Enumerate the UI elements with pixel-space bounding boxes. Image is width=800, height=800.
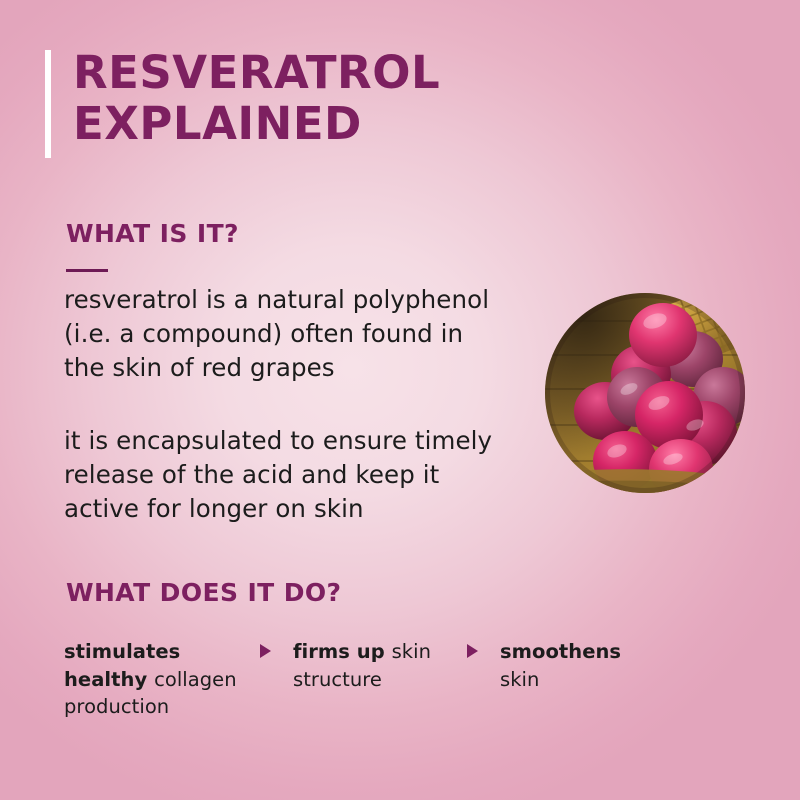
section-heading-what-does-it-do: WHAT DOES IT DO? — [66, 578, 341, 607]
triangle-right-icon — [260, 644, 271, 658]
benefit-strong-text: firms up — [293, 640, 392, 663]
triangle-right-icon — [467, 644, 478, 658]
poster-canvas: RESVERATROL EXPLAINED WHAT IS IT? resver… — [0, 0, 800, 800]
section-heading-what-is-it: WHAT IS IT? — [66, 219, 239, 248]
benefit-item-smoothness: smoothens skin — [500, 638, 650, 693]
benefits-list: stimulates healthy collagen production f… — [64, 638, 650, 721]
grapes-photo — [545, 293, 745, 493]
paragraph-encapsulation: it is encapsulated to ensure timely rele… — [64, 424, 544, 525]
benefit-strong-text: smoothens — [500, 640, 621, 663]
paragraph-definition: resveratrol is a natural polyphenol (i.e… — [64, 283, 544, 384]
title-accent-bar — [45, 50, 51, 158]
title-block: RESVERATROL EXPLAINED — [45, 48, 440, 158]
benefit-item-collagen: stimulates healthy collagen production — [64, 638, 254, 721]
page-title: RESVERATROL EXPLAINED — [73, 48, 440, 150]
heading-underline-rule — [66, 269, 108, 272]
benefit-item-firmness: firms up skin structure — [293, 638, 463, 693]
benefit-rest-text: skin — [500, 668, 539, 691]
